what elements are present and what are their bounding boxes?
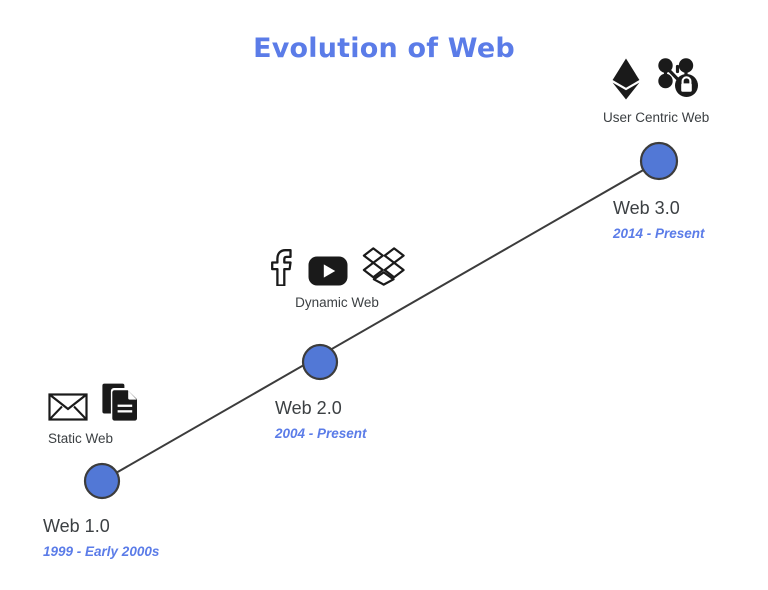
category-label-web-1: Static Web (48, 431, 140, 446)
evolution-of-web-diagram: Evolution of Web Static Web (0, 0, 768, 590)
stage-date-web-2: 2004 - Present (275, 426, 367, 441)
youtube-icon (308, 256, 348, 286)
stage-icons-web-2: Dynamic Web (268, 242, 406, 310)
timeline-node-web-3[interactable] (641, 143, 677, 179)
stage-date-web-1: 1999 - Early 2000s (43, 544, 159, 559)
icon-row-static-web (48, 378, 140, 422)
category-label-web-3: User Centric Web (603, 110, 709, 125)
stage-name-web-1: Web 1.0 (43, 516, 159, 537)
stage-text-web-2: Web 2.0 2004 - Present (275, 398, 367, 441)
timeline-line (102, 161, 659, 481)
envelope-icon (48, 392, 88, 422)
icon-row-dynamic-web (268, 242, 406, 286)
timeline-node-web-1[interactable] (85, 464, 119, 498)
stage-icons-web-3: User Centric Web (603, 57, 709, 125)
stage-text-web-1: Web 1.0 1999 - Early 2000s (43, 516, 159, 559)
stage-text-web-3: Web 3.0 2014 - Present (613, 198, 705, 241)
stage-icons-web-1: Static Web (48, 378, 140, 446)
stage-name-web-3: Web 3.0 (613, 198, 705, 219)
category-label-web-2: Dynamic Web (268, 295, 406, 310)
stage-date-web-3: 2014 - Present (613, 226, 705, 241)
documents-icon (102, 382, 140, 422)
ethereum-icon (611, 57, 641, 101)
timeline-node-web-2[interactable] (303, 345, 337, 379)
icon-row-user-centric-web (603, 57, 709, 101)
stage-name-web-2: Web 2.0 (275, 398, 367, 419)
dropbox-icon (362, 246, 406, 286)
blockchain-lock-icon (655, 57, 701, 101)
facebook-icon (268, 248, 294, 286)
